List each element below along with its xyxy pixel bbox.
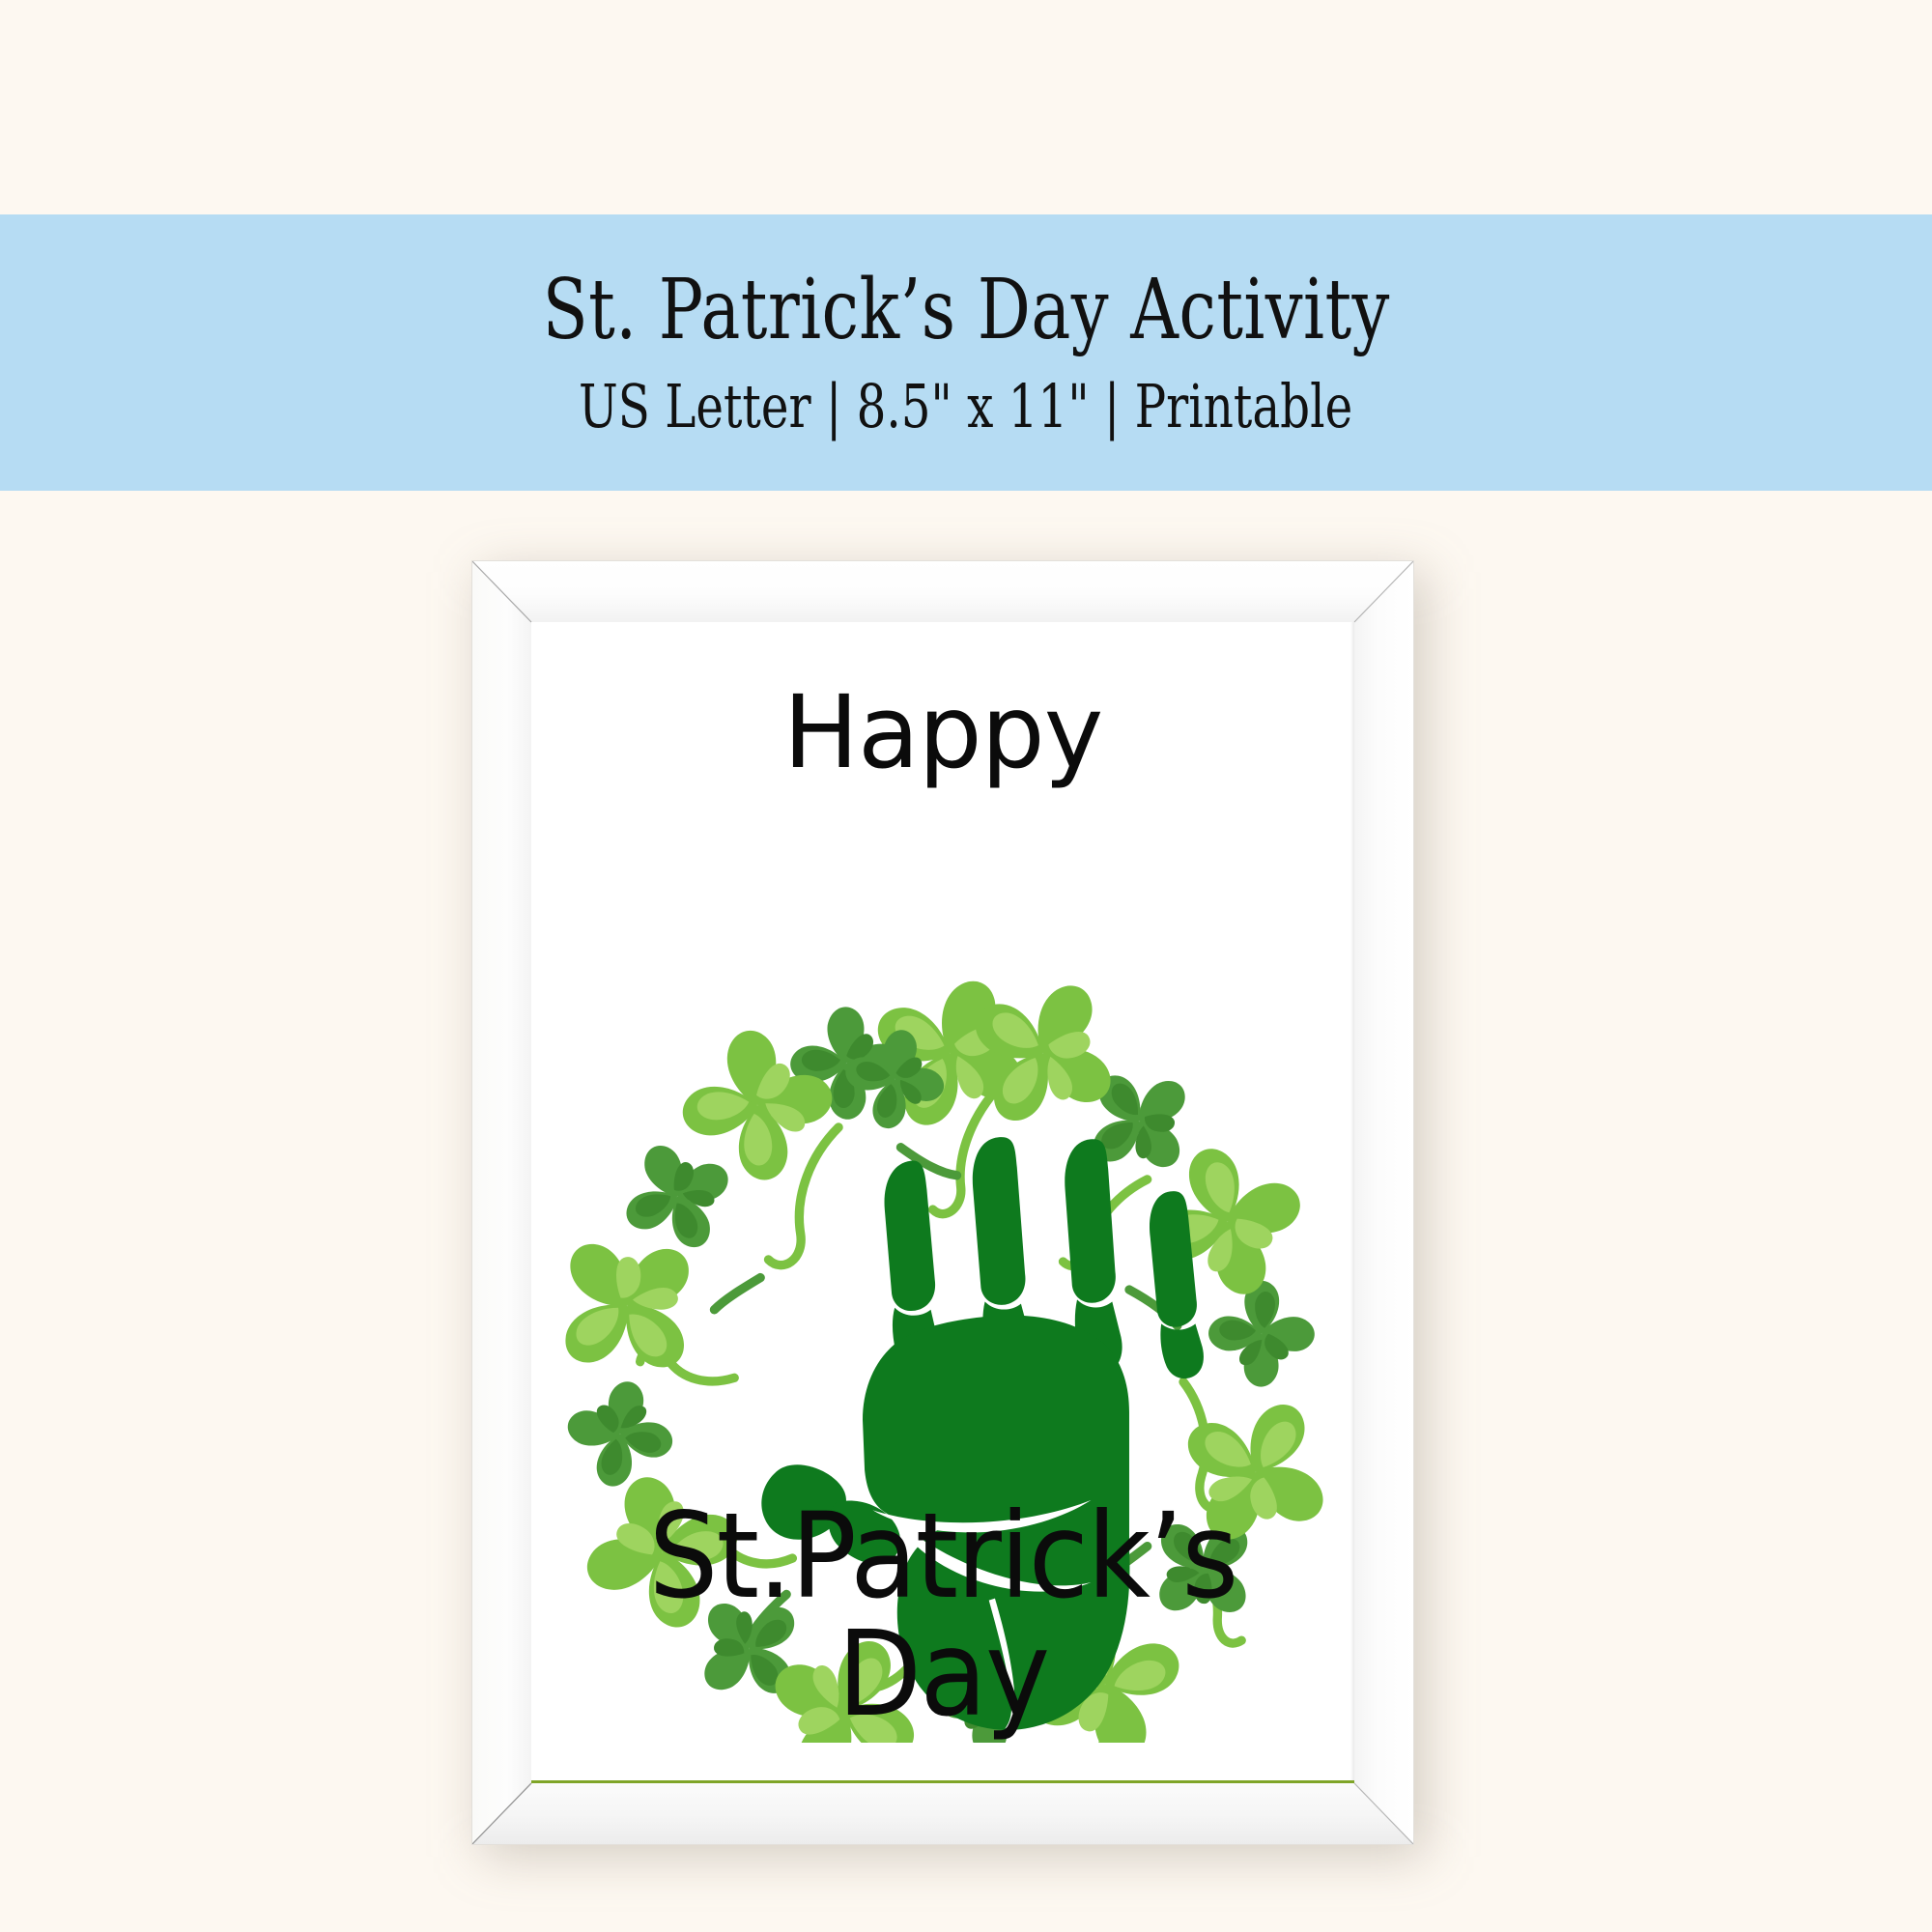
printable-poster: Happy (531, 622, 1354, 1783)
picture-frame: Happy (471, 560, 1414, 1845)
frame-opening: Happy (531, 622, 1354, 1783)
poster-right-edge-shade (1350, 622, 1354, 1783)
page-root: St. Patrick’s Day Activity US Letter | 8… (0, 0, 1932, 1932)
header-banner: St. Patrick’s Day Activity US Letter | 8… (0, 214, 1932, 491)
page-subtitle: US Letter | 8.5" x 11" | Printable (579, 377, 1352, 437)
poster-footer: St.Patrick’s Day (560, 1497, 1325, 1733)
poster-bottom-accent-line (531, 1780, 1354, 1783)
page-title: St. Patrick’s Day Activity (542, 269, 1389, 352)
poster-heading: Happy (531, 682, 1354, 782)
